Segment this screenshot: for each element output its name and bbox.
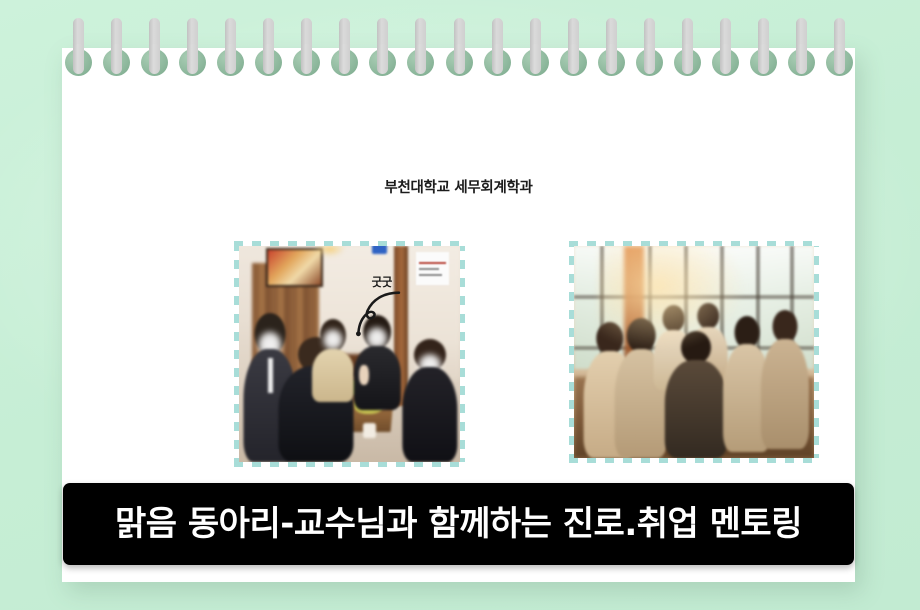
person-right-foreground [403, 339, 458, 462]
notepad-card: 부천대학교 세무회계학과 [62, 48, 855, 582]
page-title: 부천대학교 세무회계학과 [62, 176, 855, 197]
cup-2 [363, 423, 376, 438]
person-right-2 [761, 310, 809, 450]
window-light-glow [598, 246, 747, 352]
title-banner: 맑음 동아리-교수님과 함께하는 진로.취업 멘토링 [63, 483, 854, 565]
photo-left-frame[interactable]: 굿굿 [234, 241, 465, 467]
curly-arrow-icon [345, 283, 407, 343]
blue-sign [372, 246, 387, 254]
photo-right-frame[interactable] [569, 241, 819, 463]
photo-right [574, 246, 814, 458]
annotation-text: 굿굿 [372, 274, 392, 290]
photo-left: 굿굿 [239, 246, 460, 462]
wall-notice [416, 252, 449, 284]
poster-canvas: 부천대학교 세무회계학과 [0, 0, 920, 610]
banner-text: 맑음 동아리-교수님과 함께하는 진로.취업 멘토링 [115, 507, 802, 541]
ceiling-lamp-glow [314, 246, 345, 257]
